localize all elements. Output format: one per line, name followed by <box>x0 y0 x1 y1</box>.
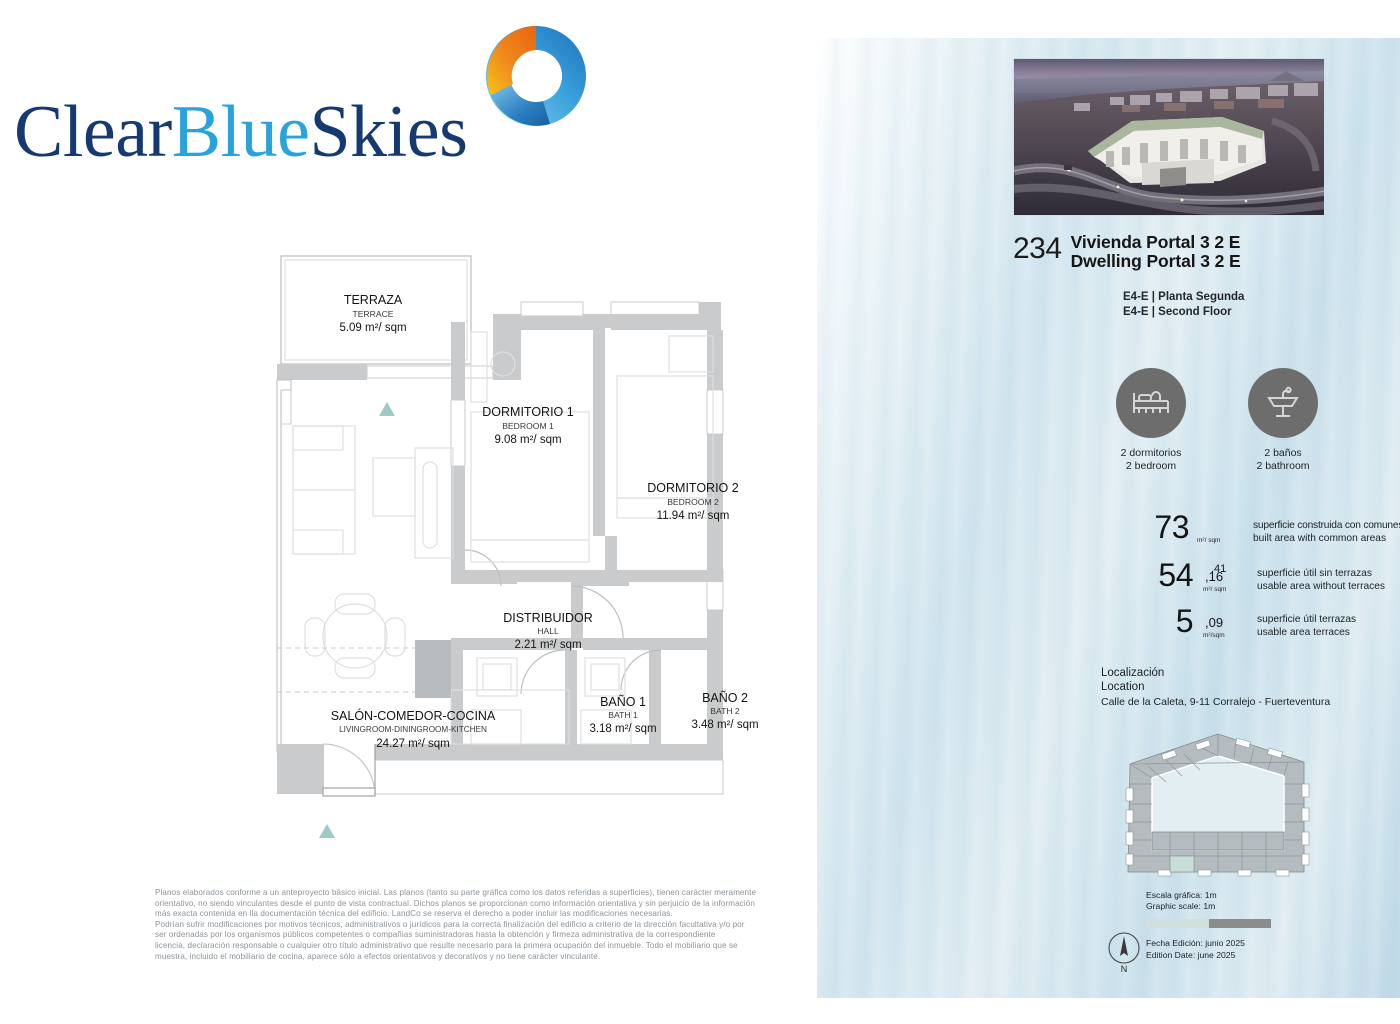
brand-word-clear: Clear <box>14 91 172 173</box>
north-compass-icon: N <box>1106 930 1142 974</box>
feature-bedrooms-label-es: 2 dormitorios <box>1101 447 1201 460</box>
disclaimer-line-3: más exacta contenida en lla documentació… <box>155 909 955 920</box>
development-aerial-photo <box>1013 58 1325 216</box>
scale-bar <box>1146 919 1271 928</box>
keyplan-highlighted-unit <box>1170 856 1194 872</box>
area-usable-desc-en: usable area without terraces <box>1257 580 1385 593</box>
room-label-dorm1-en: BEDROOM 1 <box>502 421 554 431</box>
location-label-en: Location <box>1101 680 1400 694</box>
area-built-desc-es: superficie construida con comunes <box>1253 519 1400 532</box>
area-usable-unit: m²/ sqm <box>1203 586 1226 594</box>
area-built-desc-en: built area with common areas <box>1253 532 1400 545</box>
area-usable-decimal: ,16 <box>1205 570 1223 583</box>
room-area-bano2: 3.48 m²/ sqm <box>691 719 758 731</box>
room-label-bano1-en: BATH 1 <box>608 710 638 720</box>
room-area-bano1: 3.18 m²/ sqm <box>589 723 656 735</box>
floorplan-document-page: ClearBlueSkies <box>0 0 1400 1024</box>
room-label-terraza-es: TERRAZA <box>344 293 403 307</box>
feature-bathrooms-label-es: 2 baños <box>1233 447 1333 460</box>
brand-wordmark: ClearBlueSkies <box>14 90 467 175</box>
area-terraces-decimal: ,09 <box>1205 616 1223 629</box>
unit-number: 234 <box>1013 232 1071 266</box>
floor-plan-drawing: TERRAZA TERRACE 5.09 m²/ sqm DORMITORIO … <box>255 240 815 860</box>
area-row-usable: 54 ,41 ,16 m²/ sqm superficie útil sin t… <box>1085 551 1385 597</box>
area-terraces-desc-en: usable area terraces <box>1257 626 1356 639</box>
room-label-bano2-es: BAÑO 2 <box>702 691 748 705</box>
room-label-salon-en: LIVINGROOM-DININGROOM-KITCHEN <box>339 725 487 734</box>
area-terraces-desc-es: superficie útil terrazas <box>1257 613 1356 626</box>
room-label-dorm2-es: DORMITORIO 2 <box>647 481 738 495</box>
area-usable-desc-es: superficie útil sin terrazas <box>1257 567 1385 580</box>
area-built-value: 73 <box>1154 511 1189 543</box>
area-built-unit: m²/ sqm <box>1197 537 1220 545</box>
bed-icon <box>1116 368 1186 438</box>
feature-icons: 2 dormitorios 2 bedroom 2 baños 2 bathro… <box>1101 368 1333 473</box>
floor-label-es: E4-E | Planta Segunda <box>1123 290 1343 305</box>
disclaimer-line-7: muestra, incluido el mobiliario de cocin… <box>155 952 955 963</box>
feature-bathrooms-label-en: 2 bathroom <box>1233 460 1333 473</box>
washbasin-icon <box>1248 368 1318 438</box>
room-label-salon-es: SALÓN-COMEDOR-COCINA <box>331 708 496 723</box>
room-label-dorm1-es: DORMITORIO 1 <box>482 405 573 419</box>
graphic-scale: Escala gráfica: 1m Graphic scale: 1m <box>1146 890 1271 928</box>
room-area-dorm1: 9.08 m²/ sqm <box>494 434 561 446</box>
edition-date-es: Fecha Edición: junio 2025 <box>1146 938 1245 950</box>
view-direction-marker <box>319 824 335 838</box>
edition-date-block: Fecha Edición: junio 2025 Edition Date: … <box>1146 938 1245 961</box>
feature-bedrooms-label-en: 2 bedroom <box>1101 460 1201 473</box>
brand-word-skies: Skies <box>310 91 468 173</box>
room-area-hall: 2.21 m²/ sqm <box>514 639 581 651</box>
disclaimer-line-4: Podrían sufrir modificaciones por motivo… <box>155 920 955 931</box>
area-row-built: 73 m²/ sqm superficie construida con com… <box>1085 505 1385 551</box>
area-terraces-unit: m²/sqm <box>1203 632 1225 640</box>
unit-title-block: 234 Vivienda Portal 3 2 E Dwelling Porta… <box>1013 232 1343 319</box>
feature-bathrooms: 2 baños 2 bathroom <box>1233 368 1333 473</box>
room-label-bano2-en: BATH 2 <box>710 706 740 716</box>
disclaimer-line-5: ser ordenadas por los organismos público… <box>155 930 955 941</box>
area-usable-value: 54 <box>1158 559 1193 591</box>
unit-name-es: Vivienda Portal 3 2 E <box>1071 233 1241 252</box>
legal-disclaimer: Planos elaborados conforme a un anteproy… <box>155 888 955 962</box>
room-label-bano1-es: BAÑO 1 <box>600 695 646 709</box>
area-terraces-value: 5 <box>1176 605 1193 637</box>
disclaimer-line-2: orientativo, no siendo vinculantes desde… <box>155 899 955 910</box>
feature-bedrooms: 2 dormitorios 2 bedroom <box>1101 368 1201 473</box>
room-area-salon: 24.27 m²/ sqm <box>376 738 450 750</box>
location-label-es: Localización <box>1101 666 1400 680</box>
room-area-terraza: 5.09 m²/ sqm <box>339 322 406 334</box>
swirl-ring-icon <box>480 20 592 132</box>
disclaimer-line-6: licencia, declaración responsable o cual… <box>155 941 955 952</box>
location-address: Calle de la Caleta, 9-11 Corralejo - Fue… <box>1101 695 1400 710</box>
floor-label-en: E4-E | Second Floor <box>1123 305 1343 320</box>
location-block: Localización Location Calle de la Caleta… <box>1101 666 1400 710</box>
compass-north-letter: N <box>1121 964 1128 974</box>
area-summary-list: 73 m²/ sqm superficie construida con com… <box>1085 505 1385 643</box>
room-label-terraza-en: TERRACE <box>352 309 393 319</box>
site-key-plan <box>1118 722 1318 880</box>
room-label-hall-en: HALL <box>537 626 559 636</box>
unit-name-en: Dwelling Portal 3 2 E <box>1071 252 1241 271</box>
room-area-dorm2: 11.94 m²/ sqm <box>657 510 730 522</box>
disclaimer-line-1: Planos elaborados conforme a un anteproy… <box>155 888 955 899</box>
brand-logo: ClearBlueSkies <box>14 12 594 187</box>
view-direction-marker <box>379 402 395 416</box>
brand-word-blue: Blue <box>172 91 310 173</box>
scale-label-es: Escala gráfica: 1m <box>1146 890 1271 901</box>
scale-label-en: Graphic scale: 1m <box>1146 901 1271 912</box>
area-row-terraces: 5 ,09 m²/sqm superficie útil terrazas us… <box>1085 597 1385 643</box>
room-label-dorm2-en: BEDROOM 2 <box>667 497 719 507</box>
edition-date-en: Edition Date: june 2025 <box>1146 950 1245 962</box>
room-label-hall-es: DISTRIBUIDOR <box>503 611 593 625</box>
